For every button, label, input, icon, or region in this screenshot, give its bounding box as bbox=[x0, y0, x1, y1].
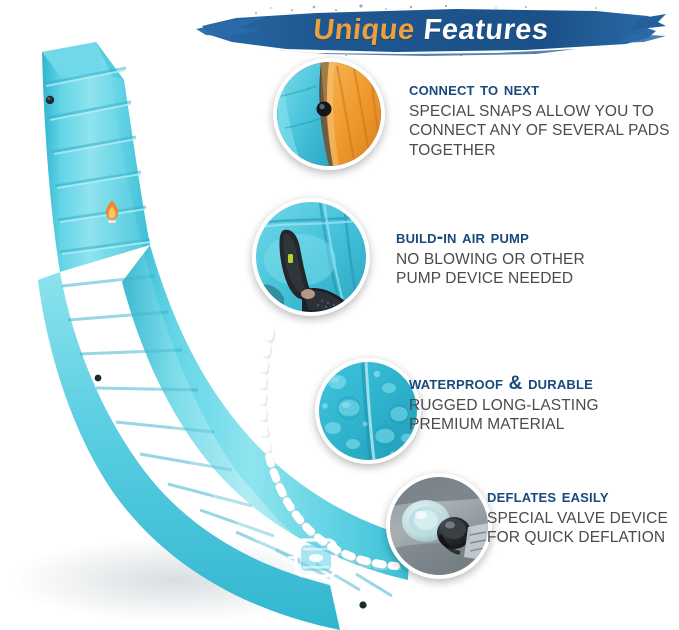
snap-button-top bbox=[46, 96, 54, 104]
feature-text-waterproof-durable: Waterproof & Durable Rugged long-lasting… bbox=[409, 374, 599, 435]
feature-photo-deflates-easily bbox=[386, 473, 492, 579]
feature-text-deflates-easily: Deflates Easily Special valve device for… bbox=[487, 487, 668, 548]
feature-photo-waterproof-durable bbox=[315, 358, 421, 464]
feature-body-build-in-air-pump: No blowing or other pump device needed bbox=[396, 250, 585, 289]
feature-body-line: for quick deflation bbox=[487, 528, 668, 547]
feature-text-build-in-air-pump: Build-in Air Pump No blowing or other pu… bbox=[396, 228, 585, 289]
feature-body-line: premium material bbox=[409, 415, 599, 434]
feature-body-line: connect any of several pads bbox=[409, 121, 670, 140]
feature-body-line: Special snaps allow you to bbox=[409, 102, 670, 121]
feature-body-line: Rugged long-lasting bbox=[409, 396, 599, 415]
feature-body-connect-to-next: Special snaps allow you to connect any o… bbox=[409, 102, 670, 160]
feature-heading-connect-to-next: Connect to Next bbox=[409, 80, 670, 100]
feature-body-line: together bbox=[409, 141, 670, 160]
snap-button-middle bbox=[95, 375, 102, 382]
feature-heading-build-in-air-pump: Build-in Air Pump bbox=[396, 228, 585, 248]
banner-title-features: Features bbox=[422, 14, 550, 47]
feature-text-connect-to-next: Connect to Next Special snaps allow you … bbox=[409, 80, 670, 160]
feature-body-line: pump device needed bbox=[396, 269, 585, 288]
feature-photo-build-in-air-pump bbox=[252, 198, 370, 316]
feature-body-line: Special valve device bbox=[487, 509, 668, 528]
infographic-root: UniqueFeatures bbox=[0, 0, 679, 630]
feature-heading-waterproof-durable: Waterproof & Durable bbox=[409, 374, 599, 394]
feature-photo-connect-to-next bbox=[273, 58, 385, 170]
feature-body-waterproof-durable: Rugged long-lasting premium material bbox=[409, 396, 599, 435]
feature-heading-deflates-easily: Deflates Easily bbox=[487, 487, 668, 507]
feature-body-deflates-easily: Special valve device for quick deflation bbox=[487, 509, 668, 548]
snap-button-bottom bbox=[359, 601, 366, 608]
feature-body-line: No blowing or other bbox=[396, 250, 585, 269]
